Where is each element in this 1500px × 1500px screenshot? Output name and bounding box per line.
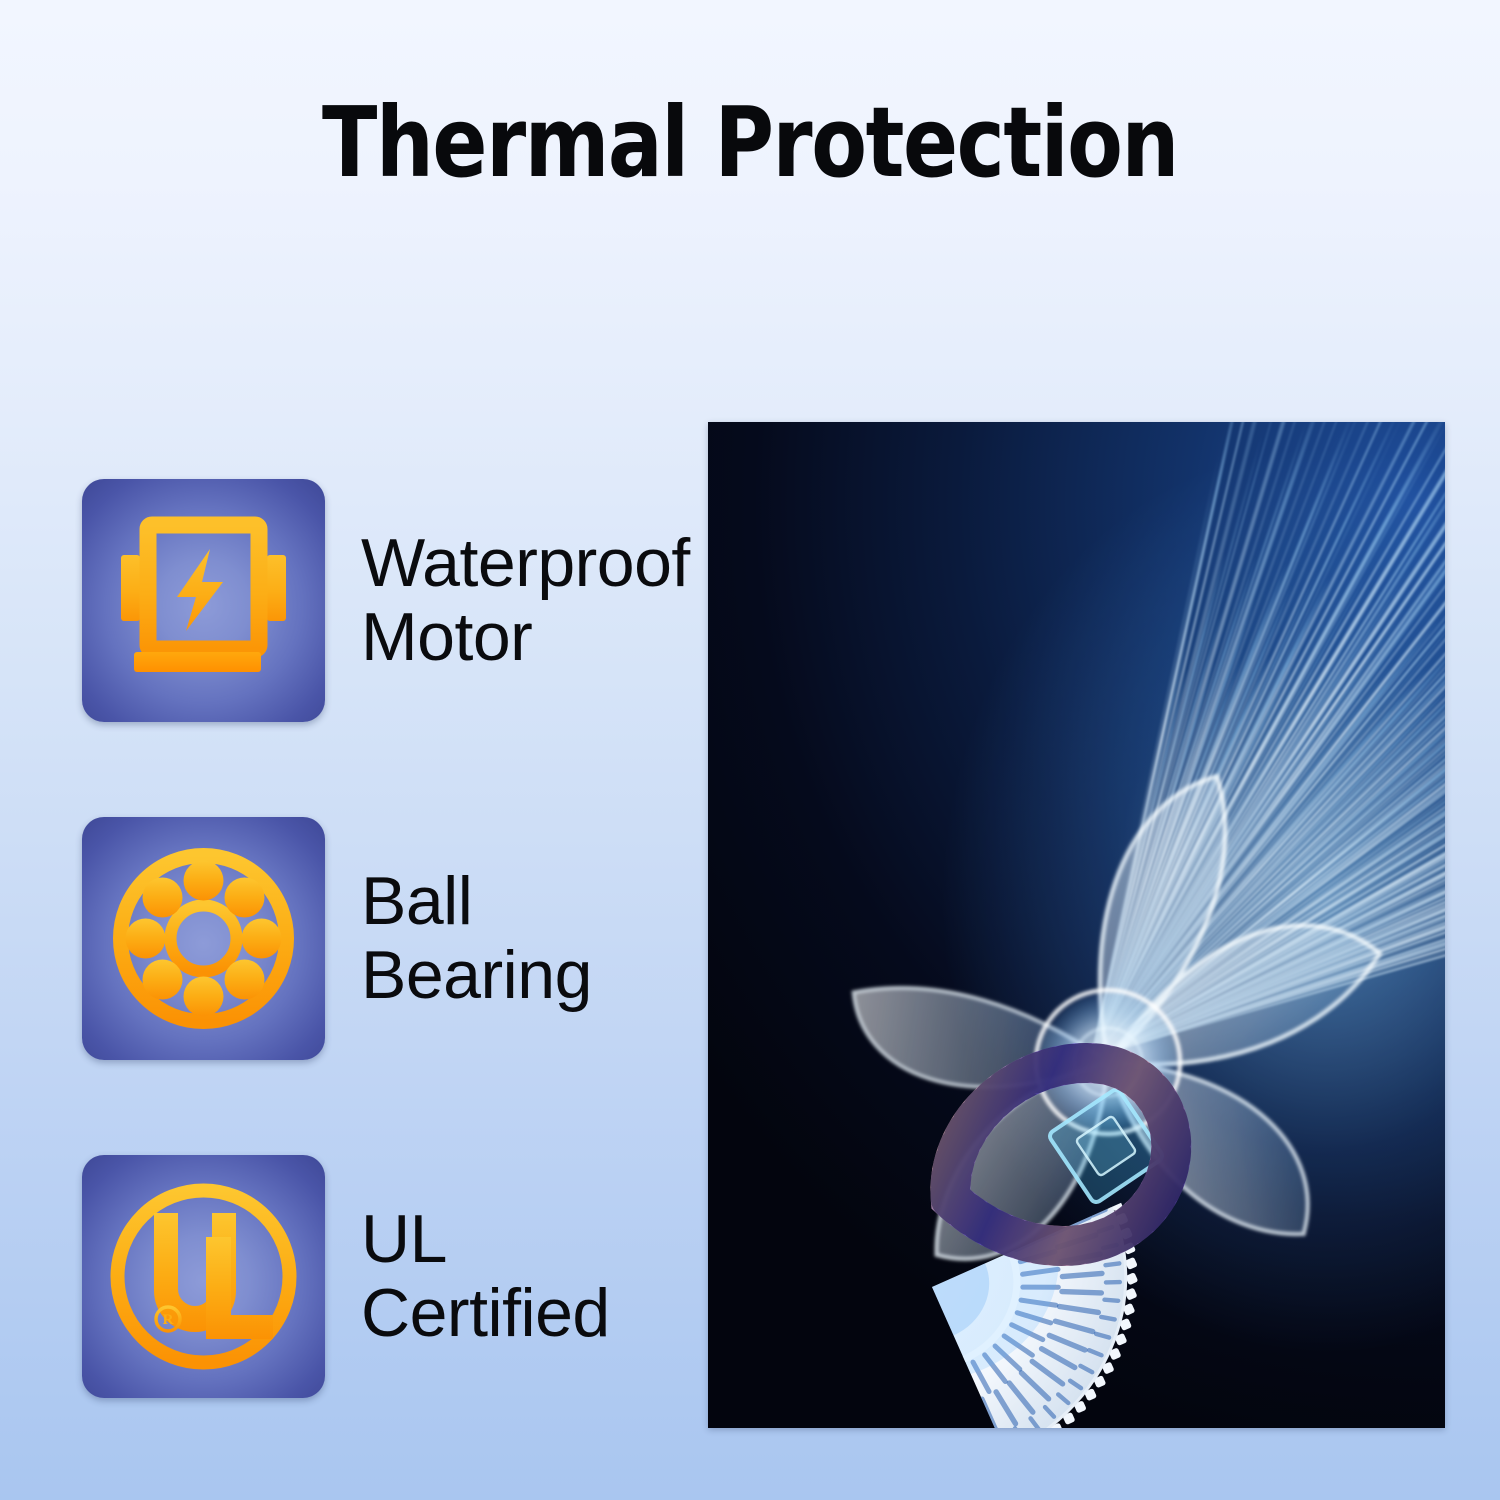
ball-bearing-icon	[82, 817, 325, 1060]
page-title: Thermal Protection	[53, 92, 1448, 194]
ball-bearing-badge	[82, 817, 325, 1060]
feature-item-ul-certified: R UL Certified	[82, 1154, 702, 1399]
waterproof-motor-icon	[82, 479, 325, 722]
waterproof-motor-badge	[82, 479, 325, 722]
feature-label-line2: Bearing	[361, 939, 592, 1012]
ul-certified-icon: R	[82, 1155, 325, 1398]
feature-label-line2: Certified	[361, 1277, 610, 1350]
feature-list: Waterproof Motor	[82, 478, 702, 1399]
registered-symbol-letter: R	[163, 1312, 174, 1328]
feature-label-line1: UL	[361, 1201, 447, 1277]
feature-item-waterproof-motor: Waterproof Motor	[82, 478, 702, 723]
infographic-page: Thermal Protection	[0, 0, 1500, 1500]
ul-certified-badge: R	[82, 1155, 325, 1398]
product-photo-panel	[708, 422, 1445, 1428]
feature-item-ball-bearing: Ball Bearing	[82, 816, 702, 1061]
feature-label-line1: Ball	[361, 863, 472, 939]
feature-label-line1: Waterproof	[361, 525, 690, 601]
feature-label-ul-certified: UL Certified	[361, 1203, 610, 1350]
feature-label-ball-bearing: Ball Bearing	[361, 865, 592, 1012]
feature-label-waterproof-motor: Waterproof Motor	[361, 527, 690, 674]
feature-label-line2: Motor	[361, 601, 690, 674]
fan-grille-and-stator	[708, 422, 1445, 1428]
